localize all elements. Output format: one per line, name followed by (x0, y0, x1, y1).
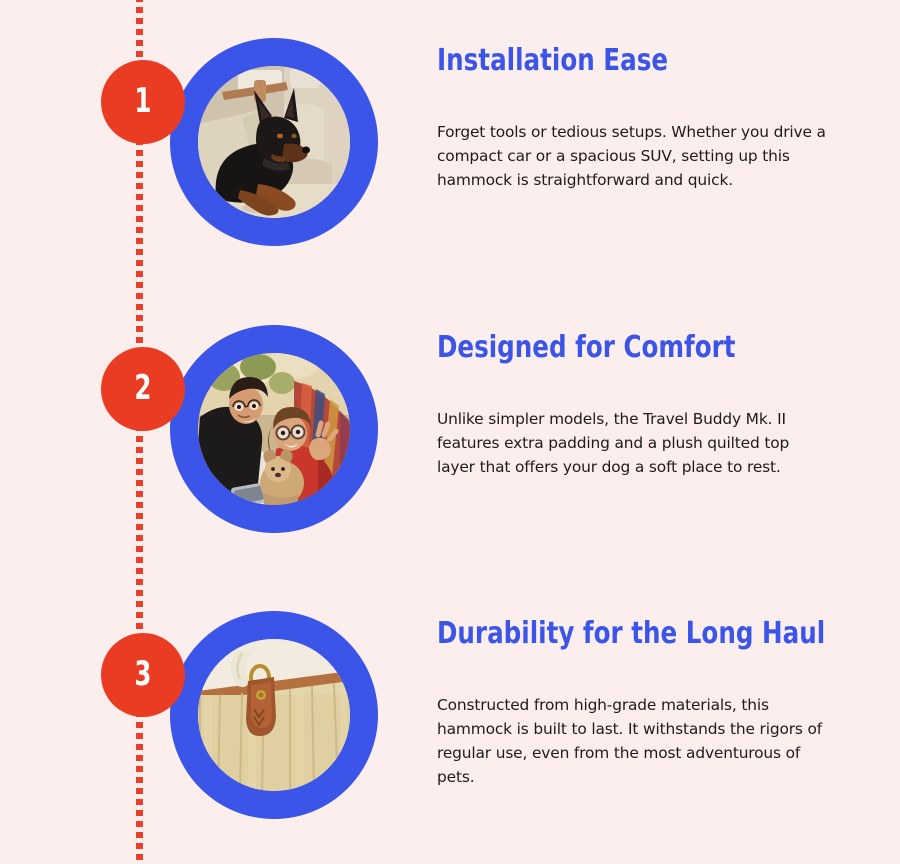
step-text-column-1: Installation Ease Forget tools or tediou… (437, 46, 837, 192)
step-title-2: Designed for Comfort (437, 333, 765, 364)
step-body-1: Forget tools or tedious setups. Whether … (437, 120, 829, 192)
step-title-3: Durability for the Long Haul (437, 619, 765, 650)
step-text-column-3: Durability for the Long Haul Constructed… (437, 619, 837, 789)
step-number-badge-1: 1 (101, 60, 185, 144)
step-body-2: Unlike simpler models, the Travel Buddy … (437, 407, 829, 479)
step-body-3: Constructed from high-grade materials, t… (437, 693, 829, 789)
step-text-column-2: Designed for Comfort Unlike simpler mode… (437, 333, 837, 479)
step-photo-ring-3 (170, 611, 378, 819)
step-photo-1 (198, 66, 350, 218)
step-photo-ring-2 (170, 325, 378, 533)
step-photo-3 (198, 639, 350, 791)
step-number-label-1: 1 (134, 84, 151, 120)
step-photo-ring-1 (170, 38, 378, 246)
step-number-label-2: 2 (134, 371, 151, 407)
step-number-badge-2: 2 (101, 347, 185, 431)
step-number-label-3: 3 (134, 657, 151, 693)
step-number-badge-3: 3 (101, 633, 185, 717)
step-title-1: Installation Ease (437, 46, 765, 77)
step-photo-2 (198, 353, 350, 505)
